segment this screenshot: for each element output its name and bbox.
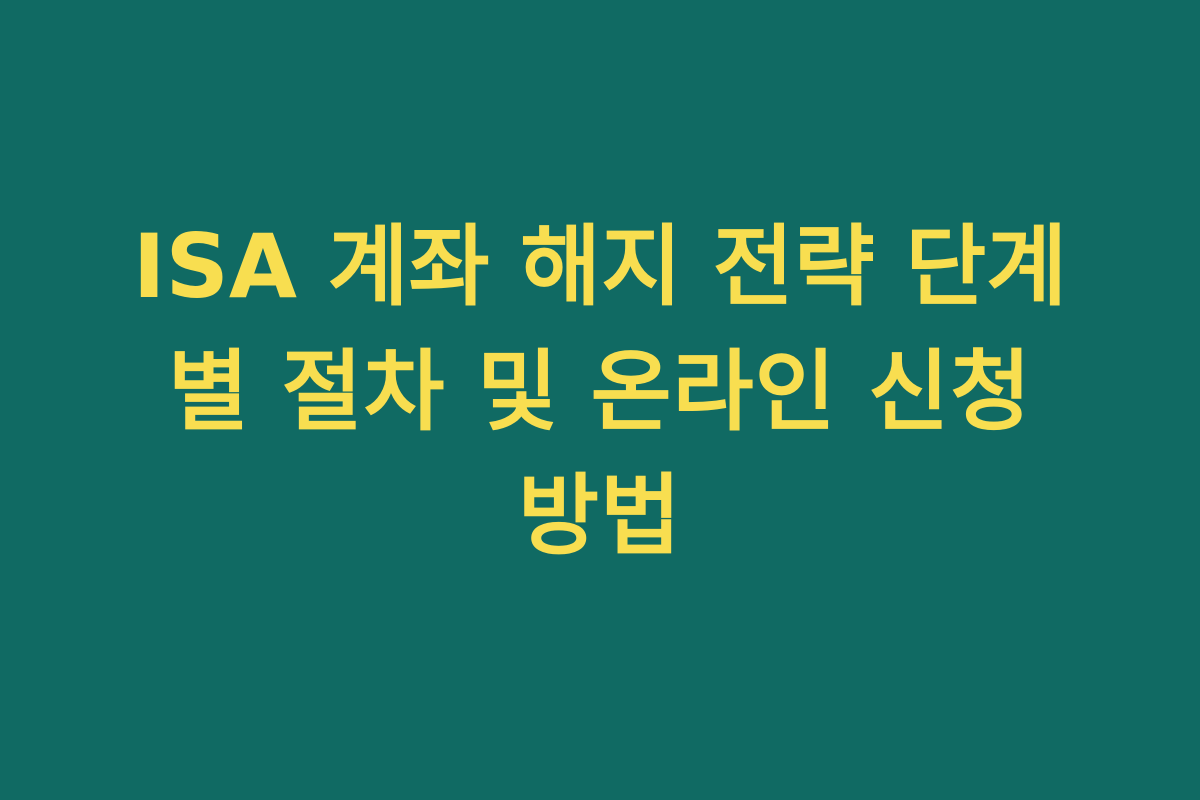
title-line-1: ISA 계좌 해지 전략 단계 <box>85 205 1115 330</box>
title-line-3: 방법 <box>85 454 1115 579</box>
thumbnail-canvas: ISA 계좌 해지 전략 단계 별 절차 및 온라인 신청 방법 <box>0 0 1200 800</box>
title-line-2: 별 절차 및 온라인 신청 <box>85 330 1115 455</box>
title-text-block: ISA 계좌 해지 전략 단계 별 절차 및 온라인 신청 방법 <box>85 205 1115 580</box>
